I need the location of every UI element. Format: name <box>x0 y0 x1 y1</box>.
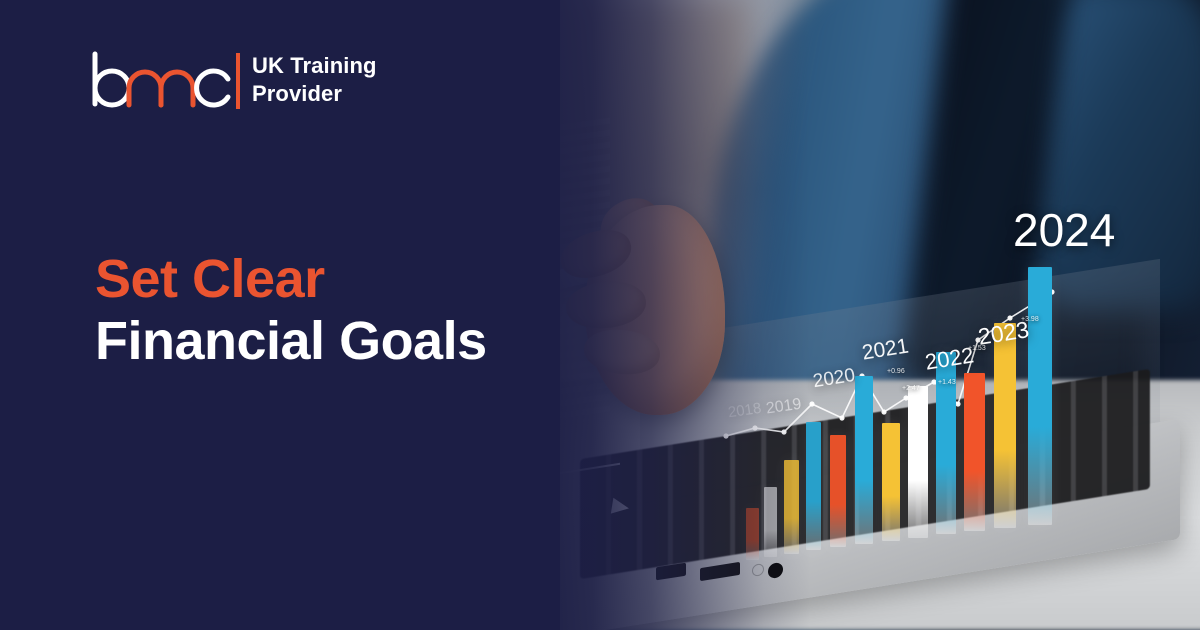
chart-bar <box>764 487 777 557</box>
chart-bar <box>830 435 846 547</box>
logo-tagline: UK Training Provider <box>252 52 377 108</box>
chart-growth-label: +0.96 <box>887 368 905 375</box>
logo-tagline-line2: Provider <box>252 80 377 108</box>
x-axis-arrow-icon <box>611 498 630 516</box>
marketing-banner: 2018201920202021202220232024 +0.96+1.43+… <box>0 0 1200 630</box>
page-title: Set Clear Financial Goals <box>95 248 487 372</box>
headline-line-1: Set Clear <box>95 248 487 310</box>
logo-tagline-line1: UK Training <box>252 52 377 80</box>
chart-bar <box>964 373 985 531</box>
chart-year-label: 2024 <box>1013 203 1115 257</box>
headline-line-2: Financial Goals <box>95 310 487 372</box>
chart-growth-label: +1.53 <box>968 345 986 352</box>
chart-bar <box>882 423 900 541</box>
logo-divider <box>236 53 240 109</box>
chart-growth-label: +2.47 <box>902 385 920 392</box>
chart-bar <box>908 386 928 538</box>
chart-bar <box>994 323 1016 528</box>
chart-growth-label: +1.43 <box>938 379 956 386</box>
chart-bar <box>806 422 821 550</box>
chart-bar <box>784 460 799 554</box>
bmc-wordmark-icon <box>88 48 238 114</box>
bmc-logo[interactable]: UK Training Provider <box>88 48 388 114</box>
chart-growth-label: +3.98 <box>1021 316 1039 323</box>
chart-bar <box>746 508 759 560</box>
chart-bar <box>855 376 873 544</box>
chart-bar <box>1028 267 1052 525</box>
